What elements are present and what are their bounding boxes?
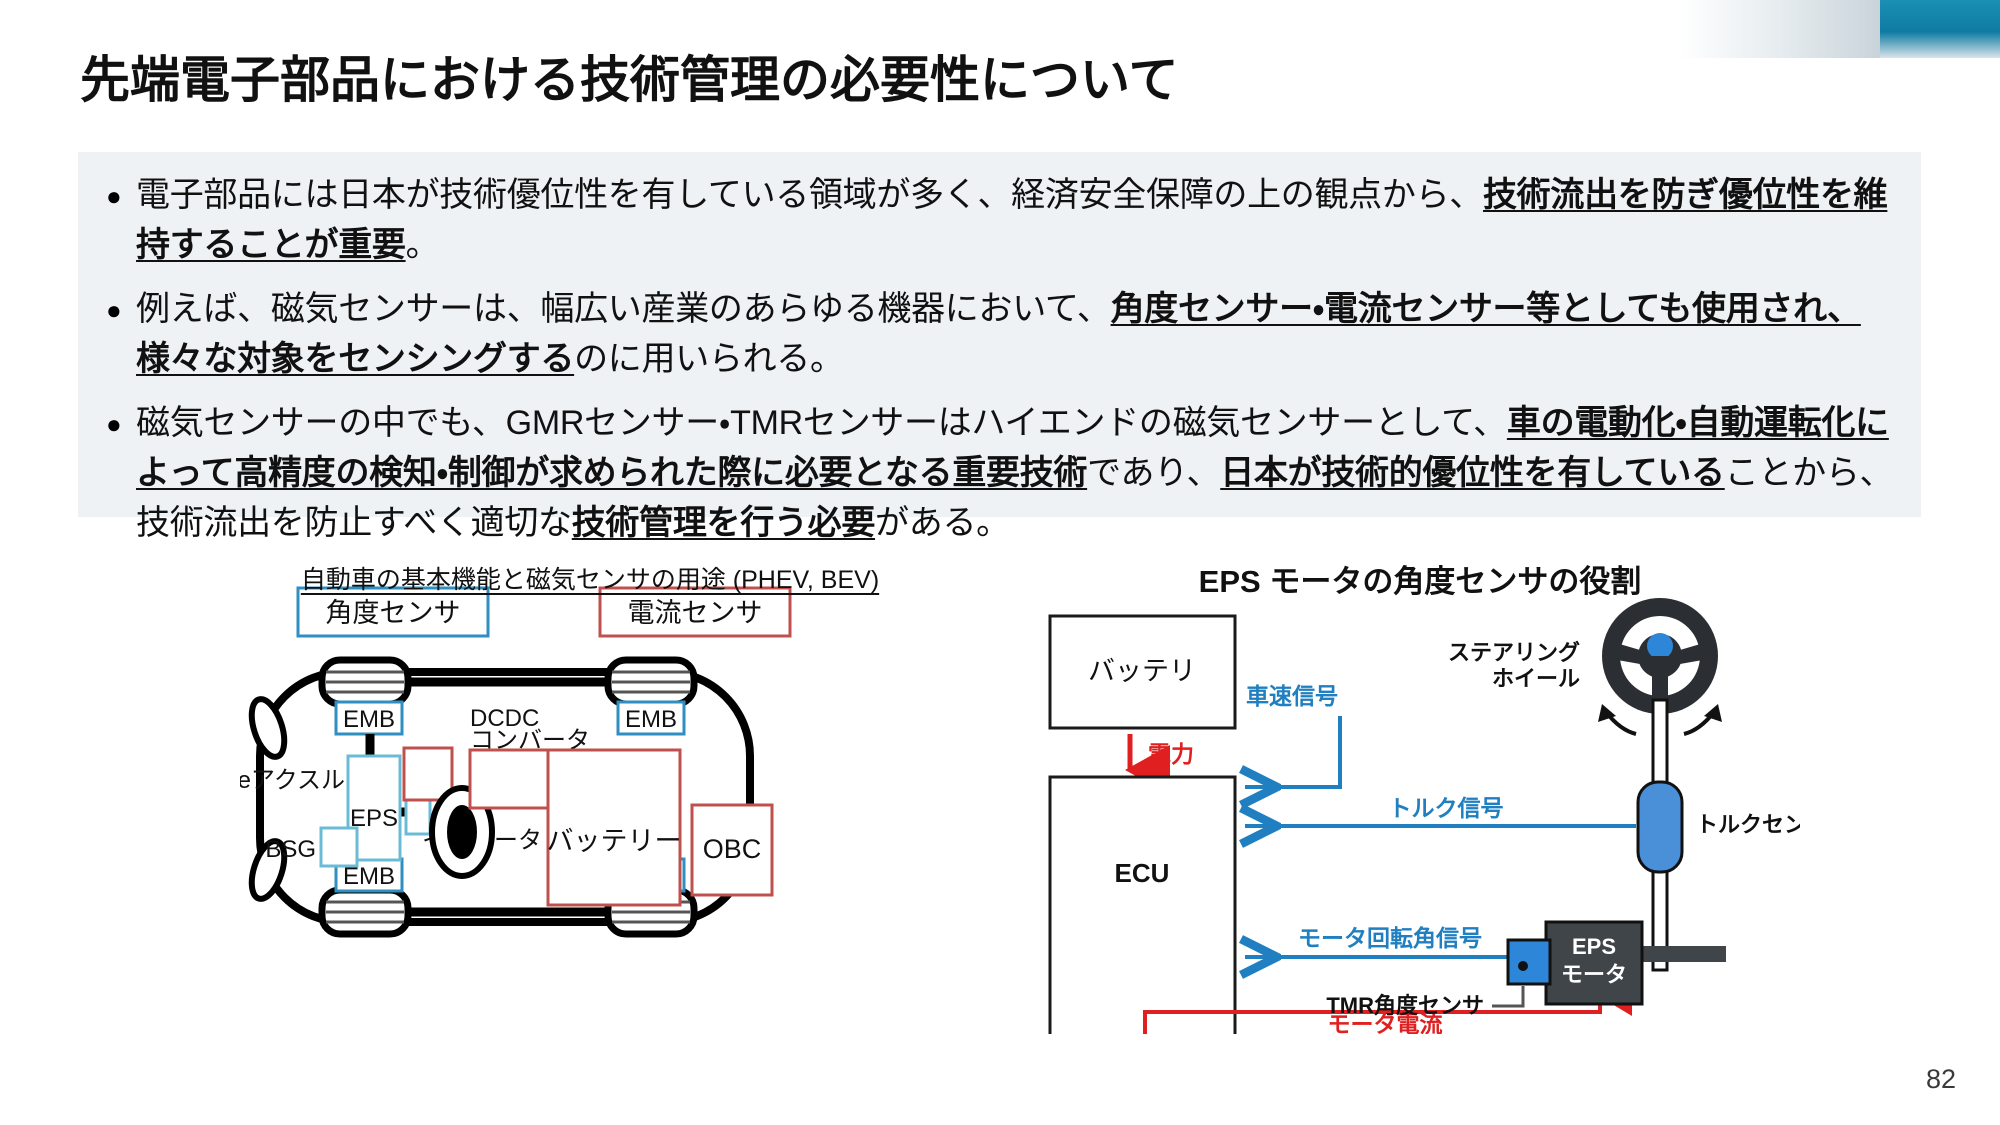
vehicle-speed-signal: 車速信号 — [1245, 683, 1340, 787]
list-item: ● 磁気センサーの中でも、GMRセンサー・TMRセンサーはハイエンドの磁気センサ… — [100, 398, 1899, 548]
page-title: 先端電子部品における技術管理の必要性について — [80, 40, 1179, 112]
tmr-angle-sensor: TMR角度センサ — [1326, 940, 1550, 1018]
torque-sensor: トルクセンサ — [1638, 782, 1800, 872]
ecu-block-label: ECU — [1115, 858, 1170, 888]
ribbon-gradient-light — [1680, 0, 1880, 58]
eps-motor-label-line2: モータ — [1561, 962, 1627, 987]
bullet-text: 磁気センサーの中でも、GMRセンサー・TMRセンサーはハイエンドの磁気センサーと… — [136, 398, 1899, 548]
dcdc-converter-box — [470, 750, 548, 808]
slide: 先端電子部品における技術管理の必要性について ● 電子部品には日本が技術優位性を… — [0, 0, 2000, 1125]
bullet-marker: ● — [100, 398, 136, 450]
bullet-segment: 例えば、磁気センサーは、幅広い産業のあらゆる機器において、 — [136, 290, 1111, 328]
ecu-block: ECU — [1050, 777, 1235, 1034]
torque-sensor-label: トルクセンサ — [1696, 812, 1800, 837]
battery-block: バッテリ — [1050, 616, 1235, 728]
emb-front-right: EMB — [618, 702, 684, 734]
legend-current-sensor-label: 電流センサ — [628, 598, 763, 628]
motor-angle-label: モータ回転角信号 — [1298, 925, 1482, 951]
emb-front-left: EMB — [336, 702, 402, 734]
eps-motor-block: EPS モータ — [1546, 922, 1642, 1004]
eps-diagram-svg: バッテリ 電力 ECU 車速信号 トルク信号 — [1040, 594, 1800, 1034]
tyre-front-left — [322, 660, 408, 704]
bullet-segment: のに用いられる。 — [574, 340, 844, 378]
e-axle-label: eアクスル — [240, 767, 345, 794]
battery-label: バッテリー — [547, 826, 682, 856]
steering-rack — [1640, 946, 1726, 962]
bullet-segment: 。 — [406, 226, 440, 264]
legend-angle-sensor-label: 角度センサ — [326, 598, 461, 628]
obc-label: OBC — [703, 834, 762, 864]
torque-signal: トルク信号 — [1245, 795, 1636, 826]
bsg-label: BSG — [265, 836, 316, 863]
vehicle-diagram-svg: 角度センサ 電流センサ — [240, 560, 940, 990]
page-number: 82 — [1926, 1064, 1956, 1095]
bullet-list: ● 電子部品には日本が技術優位性を有している領域が多く、経済安全保障の上の観点か… — [78, 152, 1921, 572]
bullet-text: 例えば、磁気センサーは、幅広い産業のあらゆる機器において、角度センサー・電流セン… — [136, 284, 1899, 384]
ribbon-gradient-teal — [1880, 0, 2000, 58]
motor-angle-signal: モータ回転角信号 — [1245, 925, 1510, 957]
figure-right-caption: EPS モータの角度センサの役割 — [1040, 556, 1800, 601]
steering-label-line1: ステアリング — [1448, 640, 1580, 665]
bullet-marker: ● — [100, 170, 136, 222]
mirror-left-front — [245, 695, 290, 761]
tmr-angle-sensor-label: TMR角度センサ — [1326, 993, 1484, 1018]
steering-wheel-icon — [1602, 598, 1718, 714]
bullet-segment: であり、 — [1087, 454, 1220, 492]
eps-label: EPS — [350, 805, 398, 832]
torque-label: トルク信号 — [1389, 795, 1504, 821]
bullet-segment-emphasis: 日本が技術的優位性を有している — [1220, 454, 1724, 492]
figure-eps-motor: EPS モータの角度センサの役割 バッテリ 電力 — [1040, 556, 1800, 1036]
corner-ribbon-decoration — [1680, 0, 2000, 58]
bullet-segment: 磁気センサーの中でも、GMRセンサー・TMRセンサーはハイエンドの磁気センサーと… — [136, 404, 1507, 442]
steering-label-line2: ホイール — [1492, 666, 1580, 691]
bullet-segment: 電子部品には日本が技術優位性を有している領域が多く、経済安全保障の上の観点から、 — [136, 176, 1483, 214]
bullet-segment: がある。 — [875, 504, 1010, 542]
tyre-front-right — [608, 660, 694, 704]
list-item: ● 電子部品には日本が技術優位性を有している領域が多く、経済安全保障の上の観点か… — [100, 170, 1899, 270]
figure-vehicle-sensors: 自動車の基本機能と磁気センサの用途 (PHEV, BEV) 角度センサ 電流セン… — [240, 560, 940, 1030]
tyre-rear-left — [322, 890, 408, 934]
bsg-box — [321, 828, 357, 866]
list-item: ● 例えば、磁気センサーは、幅広い産業のあらゆる機器において、角度センサー・電流… — [100, 284, 1899, 384]
battery-block-label: バッテリ — [1088, 656, 1196, 686]
vehicle-speed-label: 車速信号 — [1246, 683, 1338, 709]
emb-front-right-label: EMB — [625, 706, 677, 733]
bullet-panel: ● 電子部品には日本が技術優位性を有している領域が多く、経済安全保障の上の観点か… — [78, 152, 1921, 517]
power-label: 電力 — [1148, 741, 1194, 767]
eps-motor-label-line1: EPS — [1572, 934, 1616, 959]
bullet-marker: ● — [100, 284, 136, 336]
bullet-text: 電子部品には日本が技術優位性を有している領域が多く、経済安全保障の上の観点から、… — [136, 170, 1899, 270]
bullet-segment-emphasis: 技術管理を行う必要 — [572, 504, 875, 542]
emb-front-left-label: EMB — [343, 706, 395, 733]
figure-left-caption: 自動車の基本機能と磁気センサの用途 (PHEV, BEV) — [240, 560, 940, 596]
